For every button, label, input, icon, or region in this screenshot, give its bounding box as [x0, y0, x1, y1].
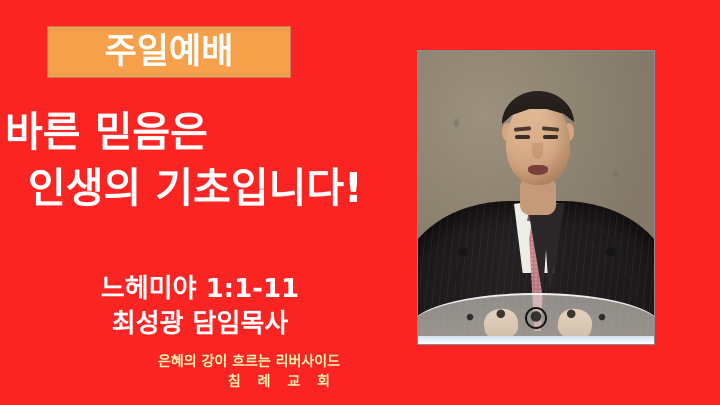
- sermon-title-line-1: 바른 믿음은: [0, 104, 420, 160]
- wall-mark: [454, 119, 459, 127]
- microphone-head-right: [606, 247, 616, 257]
- wall-mark: [614, 171, 618, 177]
- sermon-title-line-2: 인생의 기초입니다!: [0, 160, 420, 216]
- nose: [532, 143, 543, 159]
- church-name: 은혜의 강이 흐르는 리버사이드 침 례 교 회: [0, 352, 340, 392]
- worship-service-slide: 주일예배 바른 믿음은 인생의 기초입니다! 느헤미야 1:1-11 최성광 담…: [0, 0, 720, 405]
- church-name-line-1: 은혜의 강이 흐르는 리버사이드: [0, 352, 340, 372]
- eye-left: [515, 135, 530, 139]
- microphone-head-left: [458, 247, 468, 257]
- scripture-reference: 느헤미야 1:1-11: [0, 272, 400, 307]
- eye-right: [543, 135, 558, 139]
- service-type-badge: 주일예배: [47, 26, 291, 78]
- photo-bottom-strip: [418, 336, 654, 344]
- pastor-photo: [417, 50, 655, 345]
- church-name-line-2: 침 례 교 회: [0, 372, 340, 392]
- pastor-photo-content: [418, 51, 654, 344]
- speaker-name: 최성광 담임목사: [0, 307, 400, 342]
- mouth: [528, 165, 548, 175]
- sermon-title: 바른 믿음은 인생의 기초입니다!: [0, 104, 420, 216]
- pulpit-emblem: [525, 307, 547, 329]
- service-type-badge-label: 주일예배: [105, 35, 234, 70]
- sermon-details: 느헤미야 1:1-11 최성광 담임목사: [0, 272, 400, 342]
